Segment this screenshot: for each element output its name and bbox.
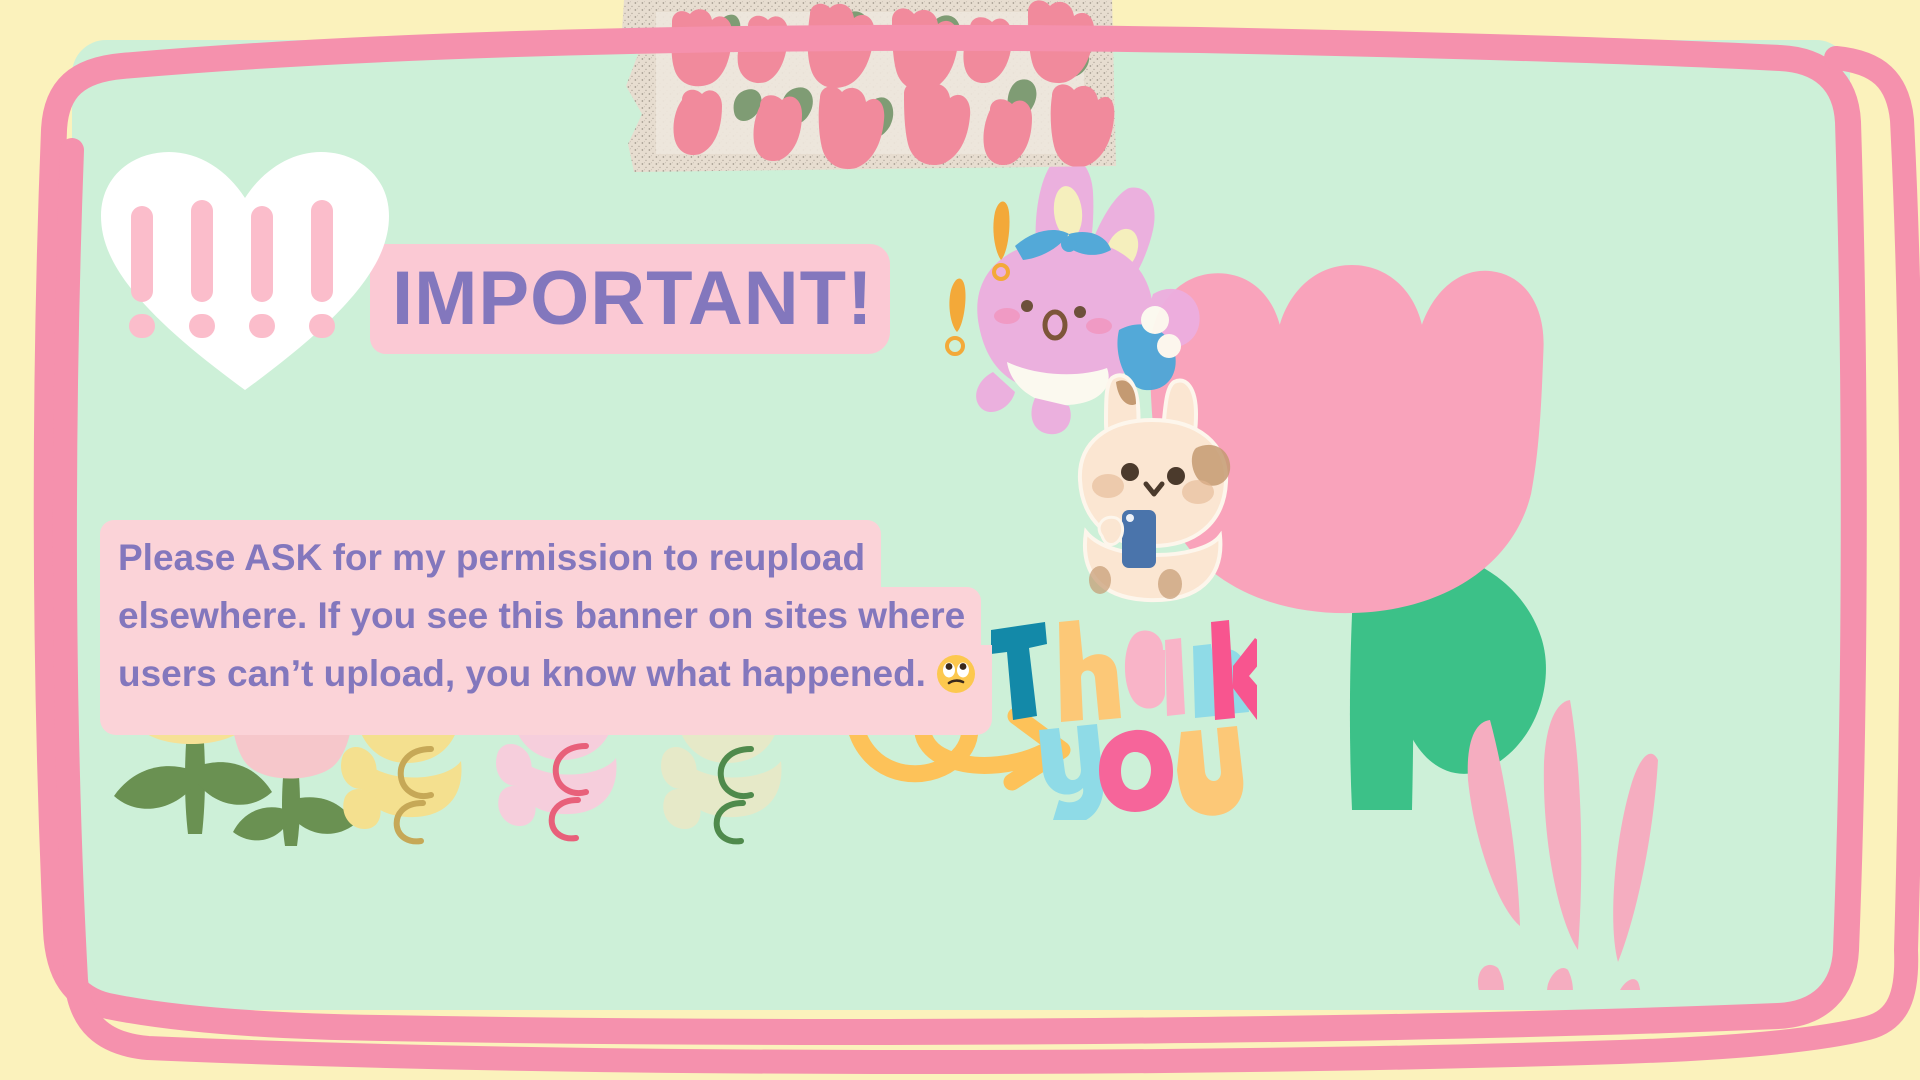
message-line-1: Please ASK for my permission to reupload [100, 520, 881, 587]
washi-tape-tulips [620, 0, 1120, 174]
thankyou-letter-k [1211, 620, 1257, 720]
thankyou-letter-T [991, 622, 1047, 720]
thank-you-lettering [987, 620, 1257, 820]
message-line-2: elsewhere. If you see this banner on sit… [100, 587, 981, 645]
page-title: IMPORTANT! [370, 261, 873, 337]
thankyou-letter-u [1177, 726, 1243, 816]
thankyou-letter-h [1059, 620, 1121, 722]
important-banner: IMPORTANT! [370, 244, 890, 354]
thankyou-letter-o [1099, 730, 1173, 812]
thankyou-letter-y [1039, 724, 1103, 820]
banner-canvas: IMPORTANT! Please ASK for my permission … [0, 0, 1920, 1080]
face-with-rolling-eyes-icon [936, 654, 976, 723]
petal-splash [1462, 700, 1762, 990]
heart-exclamation-badge [95, 150, 395, 400]
message-block: Please ASK for my permission to reupload… [100, 520, 992, 735]
message-line-3: users can’t upload, you know what happen… [100, 645, 992, 735]
thankyou-letter-a [1125, 631, 1165, 709]
cream-bunny-phone-sticker [1052, 360, 1252, 610]
